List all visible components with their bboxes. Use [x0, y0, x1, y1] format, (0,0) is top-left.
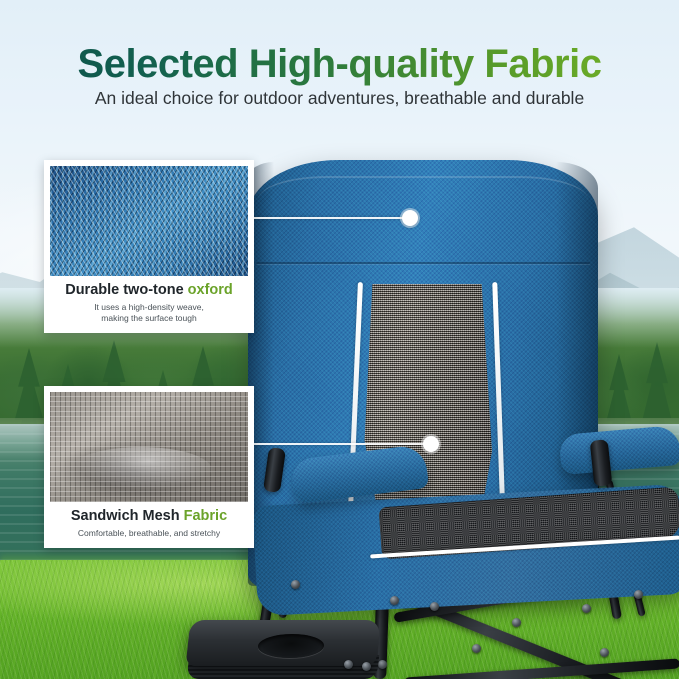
chair-backrest-headrest-seam	[256, 262, 590, 264]
feature-card-mesh-title: Sandwich Mesh Fabric	[50, 509, 248, 525]
callout-line-oxford	[252, 217, 414, 219]
mesh-sub-line-1: Comfortable, breathable, and stretchy	[50, 528, 248, 539]
feature-card-oxford-subtitle: It uses a high-density weave, making the…	[50, 302, 248, 324]
chair-bolt	[378, 660, 387, 669]
chair-bolt	[291, 580, 300, 589]
chair-bolt	[430, 602, 439, 611]
oxford-sub-line-2: making the surface tough	[50, 313, 248, 324]
oxford-sub-line-1: It uses a high-density weave,	[50, 302, 248, 313]
callout-line-mesh	[252, 443, 434, 445]
product-feature-image: Selected High-quality Fabric An ideal ch…	[0, 0, 679, 679]
page-title: Selected High-quality Fabric	[0, 42, 679, 87]
side-table-bolt	[362, 662, 371, 671]
oxford-fabric-swatch-image	[50, 166, 248, 276]
callout-dot-mesh	[423, 436, 439, 452]
mesh-fabric-fold-highlight	[70, 447, 213, 493]
mesh-title-accent: Fabric	[184, 508, 228, 524]
feature-card-oxford[interactable]: Durable two-tone oxford It uses a high-d…	[44, 160, 254, 333]
feature-card-oxford-title: Durable two-tone oxford	[50, 283, 248, 299]
feature-card-mesh[interactable]: Sandwich Mesh Fabric Comfortable, breath…	[44, 386, 254, 548]
chair-bolt	[512, 618, 521, 627]
chair-bolt	[600, 648, 609, 657]
mesh-fabric-swatch-image	[50, 392, 248, 502]
callout-dot-oxford	[402, 210, 418, 226]
chair-bolt	[634, 590, 643, 599]
page-subtitle: An ideal choice for outdoor adventures, …	[0, 88, 679, 109]
feature-card-mesh-subtitle: Comfortable, breathable, and stretchy	[50, 528, 248, 539]
oxford-title-main: Durable two-tone	[65, 282, 187, 298]
chair-backrest-top-seam	[258, 176, 588, 200]
chair-bolt	[472, 644, 481, 653]
mesh-title-main: Sandwich Mesh	[71, 508, 184, 524]
chair-frame-lower-bar	[404, 658, 679, 679]
chair-bolt	[582, 604, 591, 613]
oxford-title-accent: oxford	[188, 282, 233, 298]
chair-bolt	[390, 596, 399, 605]
side-table-bolt	[344, 660, 353, 669]
